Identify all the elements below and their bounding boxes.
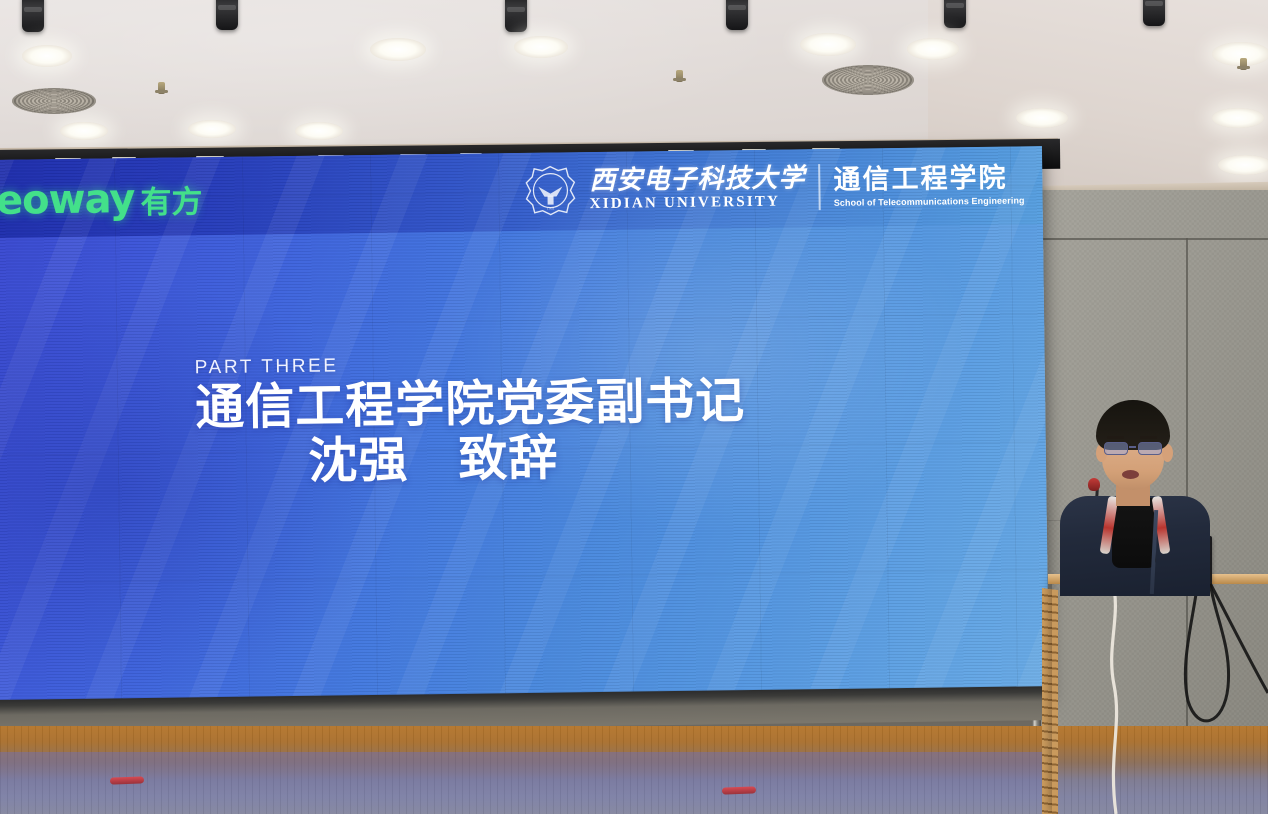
speaker-eyebrow: [1140, 436, 1157, 439]
small-red-object: [722, 786, 756, 794]
air-vent-icon: [12, 88, 96, 114]
downlight-icon: [907, 38, 959, 60]
slide-title-line1: 通信工程学院党委副书记: [195, 373, 816, 436]
xidian-university-logo-block: 1931 西安电子科技大学 XIDIAN UNIVERSITY 通信工程学院 S…: [524, 158, 1025, 217]
svg-text:1931: 1931: [547, 206, 555, 211]
floor-screen-reflection: [0, 752, 1050, 814]
speaker-eyebrow: [1107, 436, 1124, 439]
sprinkler-head-icon: [158, 82, 165, 94]
school-name-group: 通信工程学院 School of Telecommunications Engi…: [833, 164, 1024, 208]
speaker-shirt: [1112, 498, 1156, 568]
downlight-icon: [188, 120, 236, 138]
school-name-en: School of Telecommunications Engineering: [834, 195, 1025, 207]
downlight-icon: [60, 122, 108, 140]
downlight-icon: [370, 38, 426, 61]
track-light-icon: [505, 0, 527, 32]
small-red-object: [110, 776, 144, 784]
downlight-icon: [1016, 108, 1068, 128]
xidian-name-cn: 西安电子科技大学: [589, 164, 805, 194]
glasses-icon: [1138, 442, 1162, 455]
downlight-icon: [1212, 108, 1264, 128]
slide-title-line2: 沈强 致辞: [196, 428, 817, 491]
sprinkler-head-icon: [676, 70, 683, 82]
downlight-icon: [1218, 155, 1268, 175]
track-light-icon: [944, 0, 966, 28]
xidian-name-en: XIDIAN UNIVERSITY: [590, 194, 781, 213]
glasses-icon: [1104, 442, 1128, 455]
speaker-mouth: [1122, 470, 1139, 479]
track-light-icon: [22, 0, 44, 32]
wall-seam: [1034, 238, 1268, 240]
neoway-wordmark: neoway: [0, 176, 135, 224]
air-vent-icon: [822, 65, 914, 95]
glasses-bridge: [1129, 446, 1136, 448]
logo-divider: [818, 164, 821, 210]
downlight-icon: [514, 36, 568, 58]
led-screen: neoway 有方 1931 西安电子科技大学 XIDIAN UNIVERSIT…: [0, 146, 1049, 712]
downlight-icon: [22, 45, 72, 67]
track-light-icon: [1143, 0, 1165, 26]
slide-title-block: PART THREE 通信工程学院党委副书记 沈强 致辞: [195, 349, 817, 491]
track-light-icon: [726, 0, 748, 30]
sprinkler-head-icon: [1240, 58, 1247, 70]
track-light-icon: [216, 0, 238, 30]
neoway-chinese-name: 有方: [140, 176, 203, 222]
podium-cables: [1052, 575, 1268, 814]
downlight-icon: [295, 122, 343, 140]
xidian-name-group: 西安电子科技大学 XIDIAN UNIVERSITY: [589, 164, 806, 213]
xidian-university-seal-icon: 1931: [524, 164, 577, 217]
downlight-icon: [800, 33, 856, 56]
speaker-person: [1036, 400, 1226, 590]
neoway-logo: neoway 有方: [0, 175, 203, 224]
school-name-cn: 通信工程学院: [833, 164, 1007, 195]
auditorium-photo: neoway 有方 1931 西安电子科技大学 XIDIAN UNIVERSIT…: [0, 0, 1268, 814]
